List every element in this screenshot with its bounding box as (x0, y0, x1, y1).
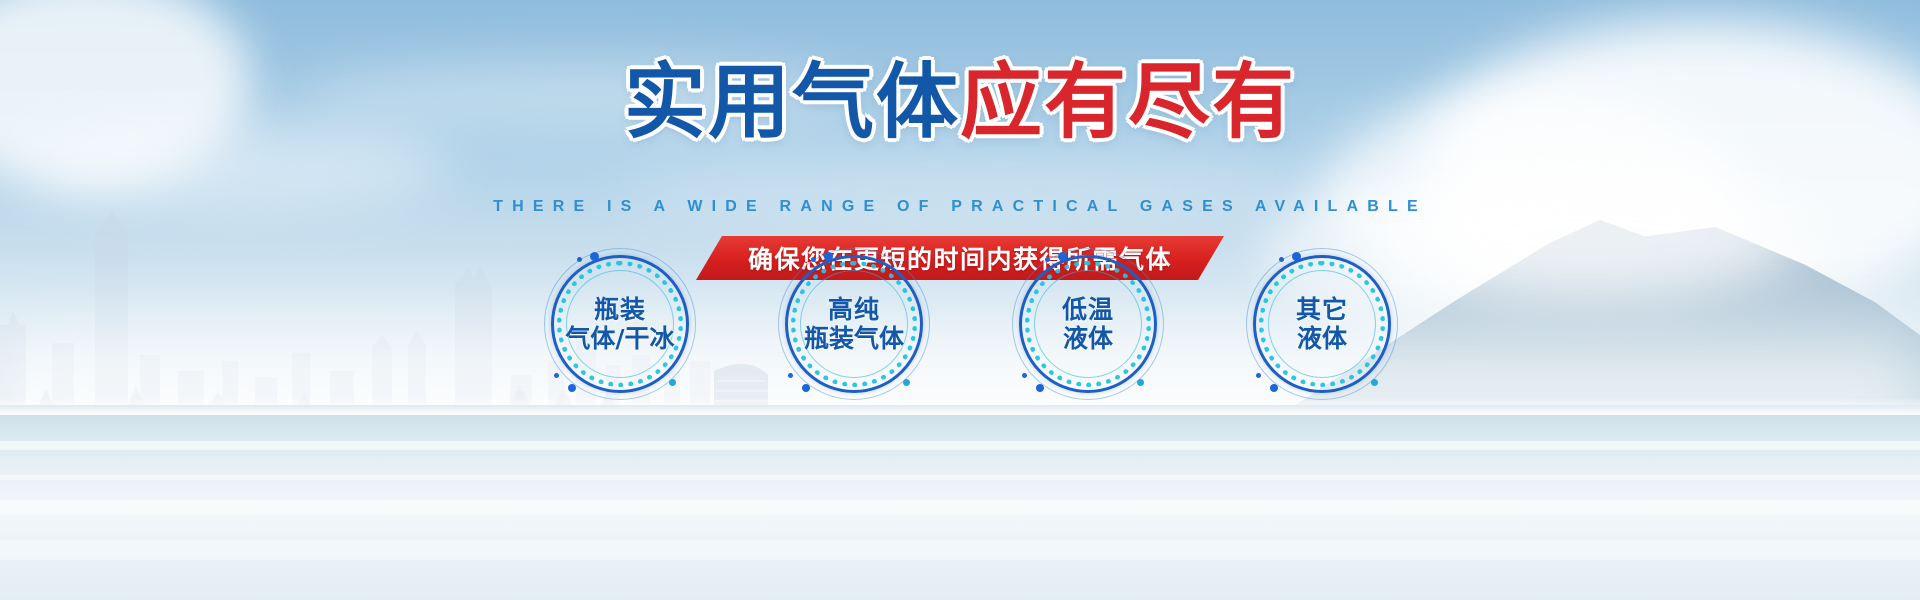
circle-label-line2: 液体 (1062, 324, 1114, 354)
circle-node-dot (903, 379, 910, 386)
circle-node-dot (811, 257, 816, 262)
banner-content: 实用气体应有尽有 THERE IS A WIDE RANGE OF PRACTI… (0, 0, 1920, 600)
circle-node-dot (824, 252, 833, 261)
headline-primary: 实用气体 (624, 55, 960, 150)
category-circle-other-liquid[interactable]: 其它 液体 (1246, 248, 1398, 400)
circle-label-line2: 气体/干冰 (565, 324, 674, 354)
circle-node-dot (1270, 384, 1278, 392)
circle-node-dot (1256, 373, 1261, 378)
category-circle-bottled-gas[interactable]: 瓶装 气体/干冰 (544, 248, 696, 400)
circle-label: 瓶装 气体/干冰 (565, 295, 674, 354)
hero-banner: 实用气体应有尽有 THERE IS A WIDE RANGE OF PRACTI… (0, 0, 1920, 600)
circle-node-dot (802, 384, 810, 392)
circle-label-line1: 瓶装 (565, 295, 674, 325)
circle-label: 低温 液体 (1062, 295, 1114, 354)
circle-label: 其它 液体 (1296, 295, 1348, 354)
circle-label-line1: 其它 (1296, 295, 1348, 325)
circle-node-dot (1371, 379, 1378, 386)
circle-node-dot (590, 252, 599, 261)
circle-node-dot (568, 384, 576, 392)
circle-label: 高纯 瓶装气体 (804, 295, 904, 354)
circle-node-dot (788, 373, 793, 378)
circle-node-dot (577, 257, 582, 262)
category-circle-high-purity-gas[interactable]: 高纯 瓶装气体 (778, 248, 930, 400)
circle-label-line2: 瓶装气体 (804, 324, 904, 354)
circle-node-dot (1058, 252, 1067, 261)
headline-accent: 应有尽有 (960, 55, 1296, 150)
circle-label-line1: 低温 (1062, 295, 1114, 325)
circle-node-dot (1036, 384, 1044, 392)
circle-label-line2: 液体 (1296, 324, 1348, 354)
circle-node-dot (1279, 257, 1284, 262)
circle-node-dot (1022, 373, 1027, 378)
circle-node-dot (1045, 257, 1050, 262)
circle-label-line1: 高纯 (804, 295, 904, 325)
category-circles: 瓶装 气体/干冰 高纯 瓶装气体 (0, 248, 1920, 400)
circle-node-dot (1137, 379, 1144, 386)
category-circle-cryogenic-liquid[interactable]: 低温 液体 (1012, 248, 1164, 400)
circle-node-dot (554, 373, 559, 378)
circle-node-dot (1292, 252, 1301, 261)
subtitle-english: THERE IS A WIDE RANGE OF PRACTICAL GASES… (0, 198, 1920, 216)
headline: 实用气体应有尽有 (0, 62, 1920, 144)
circle-node-dot (669, 379, 676, 386)
